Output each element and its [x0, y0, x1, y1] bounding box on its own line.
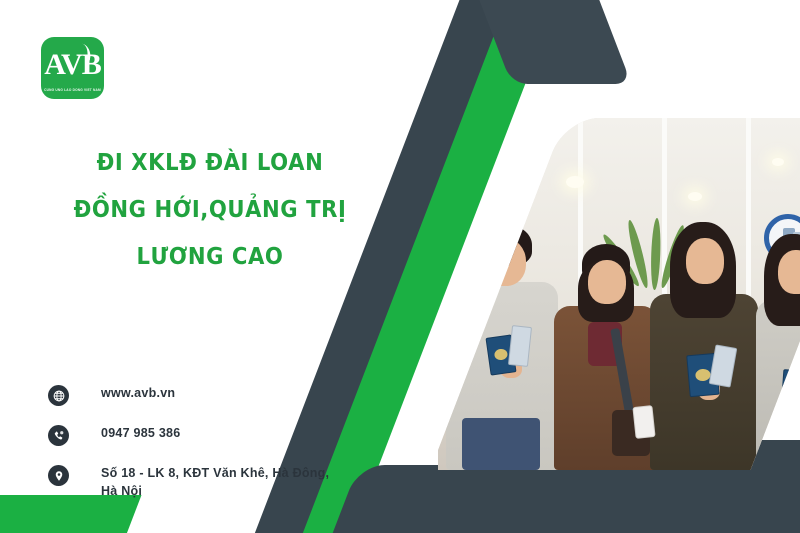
bottom-left-green-trapezoid [0, 495, 142, 533]
bottom-dark-chevron [301, 465, 800, 533]
contact-block: www.avb.vn 0947 985 386 Số 18 - LK 8, KĐ… [48, 384, 329, 500]
headline-block: ĐI XKLĐ ĐÀI LOAN ĐỒNG HỚI,QUẢNG TRỊ LƯƠN… [0, 140, 420, 281]
address-value: Số 18 - LK 8, KĐT Văn Khê, Hà Đông, Hà N… [101, 464, 329, 500]
phone-value: 0947 985 386 [101, 424, 180, 442]
contact-row-address[interactable]: Số 18 - LK 8, KĐT Văn Khê, Hà Đông, Hà N… [48, 464, 329, 500]
contact-row-website[interactable]: www.avb.vn [48, 384, 329, 406]
website-value: www.avb.vn [101, 384, 175, 402]
logo-mark-text: AVB [41, 43, 104, 87]
headline-line-3: LƯƠNG CAO [17, 234, 403, 281]
promotional-banner: AVB CUNG UNG LAO DONG VIET NAM ĐI XKLĐ Đ… [0, 0, 800, 533]
headline-line-1: ĐI XKLĐ ĐÀI LOAN [17, 140, 403, 187]
logo-tagline: CUNG UNG LAO DONG VIET NAM [41, 88, 104, 92]
headline-line-2: ĐỒNG HỚI,QUẢNG TRỊ [17, 187, 403, 234]
contact-row-phone[interactable]: 0947 985 386 [48, 424, 329, 446]
globe-icon [48, 385, 69, 406]
location-pin-icon [48, 465, 69, 486]
phone-icon [48, 425, 69, 446]
avb-logo[interactable]: AVB CUNG UNG LAO DONG VIET NAM [41, 37, 104, 99]
